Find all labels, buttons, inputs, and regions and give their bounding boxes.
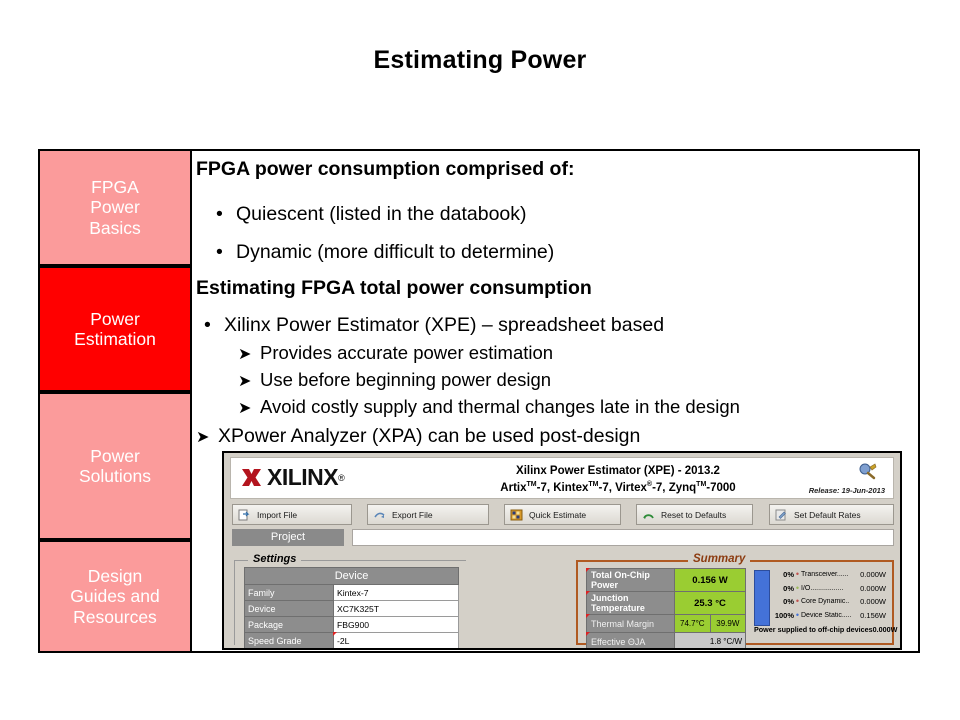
device-field-label: Speed Grade <box>245 633 334 649</box>
arrow-bullet-icon: ➤ <box>196 427 218 447</box>
trademark-mark: TM <box>588 481 598 488</box>
summary-row-value: 1.8 °C/W <box>674 633 745 651</box>
power-breakdown-bar <box>754 570 770 626</box>
device-family: KintexTM-7, <box>553 482 615 494</box>
bullet-icon: • <box>216 241 236 264</box>
device-table-row: DeviceXC7K325T <box>245 601 459 617</box>
sidebar-item-label: Power Solutions <box>79 446 151 487</box>
edit-rates-icon <box>775 509 788 521</box>
device-field-label: Family <box>245 585 334 601</box>
sidebar-item-fpga-power-basics[interactable]: FPGA Power Basics <box>38 149 192 266</box>
sidebar-item-power-solutions[interactable]: Power Solutions <box>38 392 192 540</box>
device-field-value[interactable]: -2L <box>334 633 459 649</box>
registered-mark: ® <box>338 473 345 483</box>
xilinx-x-mark-icon <box>241 467 262 488</box>
summary-group-title: Summary <box>688 553 750 565</box>
summary-table: Total On-Chip Power0.156 WJunction Tempe… <box>586 568 746 650</box>
summary-row: Thermal Margin74.7°C39.9W <box>587 615 746 633</box>
device-table-body: FamilyKintex-7DeviceXC7K325TPackageFBG90… <box>245 585 459 651</box>
bullet-icon: • <box>216 203 236 226</box>
xpe-tools-badge-icon <box>857 462 877 482</box>
sidebar-item-design-guides-and-resources[interactable]: Design Guides and Resources <box>38 540 192 653</box>
body-line-text: Provides accurate power estimation <box>260 342 553 363</box>
body-line: ➤XPower Analyzer (XPA) can be used post-… <box>196 425 640 448</box>
power-breakdown-percent: 0% <box>772 584 794 593</box>
body-line-text: FPGA power consumption comprised of: <box>196 158 574 180</box>
device-table-row: PackageFBG900 <box>245 617 459 633</box>
power-breakdown-value: 0.000W <box>858 584 886 593</box>
xilinx-wordmark: XILINX <box>267 464 338 491</box>
device-field-value[interactable]: Kintex-7 <box>334 585 459 601</box>
project-label: Project <box>232 529 344 546</box>
body-line: ➤Provides accurate power estimation <box>238 342 553 364</box>
summary-row-value: 25.3 °C <box>674 592 745 615</box>
device-field-label: Device <box>245 601 334 617</box>
toolbar-button-quick-estimate[interactable]: Quick Estimate <box>504 504 621 525</box>
toolbar-button-label: Set Default Rates <box>794 510 861 520</box>
xpe-header: XILINX ® Xilinx Power Estimator (XPE) - … <box>230 457 894 499</box>
power-breakdown-name: Core Dynamic.. <box>801 598 858 605</box>
project-row: Project <box>232 529 894 546</box>
sidebar-item-label: Power Estimation <box>74 309 156 350</box>
power-breakdown-rows: 0%•Transceiver......0.000W0%•I/O........… <box>772 568 886 622</box>
trademark-mark: ® <box>647 481 652 488</box>
summary-row-label: Effective ΘJA <box>587 633 675 651</box>
device-table: Device FamilyKintex-7DeviceXC7K325TPacka… <box>244 567 459 650</box>
device-family: ZynqTM-7000 <box>669 482 736 494</box>
export-file-icon <box>373 509 386 521</box>
power-breakdown-name: I/O................. <box>801 585 858 592</box>
toolbar-button-export-file[interactable]: Export File <box>367 504 489 525</box>
summary-row: Junction Temperature25.3 °C <box>587 592 746 615</box>
trademark-mark: TM <box>696 481 706 488</box>
power-breakdown-value: 0.000W <box>858 570 886 579</box>
settings-group: Settings Device FamilyKintex-7DeviceXC7K… <box>234 553 466 645</box>
xpe-title-block: Xilinx Power Estimator (XPE) - 2013.2 Ar… <box>423 463 813 496</box>
toolbar-button-label: Reset to Defaults <box>661 510 726 520</box>
arrow-bullet-icon: ➤ <box>238 398 260 418</box>
power-breakdown-value: 0.000W <box>858 597 886 606</box>
body-line: ➤Use before beginning power design <box>238 369 551 391</box>
device-field-value[interactable]: Extended <box>334 649 459 651</box>
summary-row-value-secondary: 39.9W <box>710 615 745 633</box>
device-table-header: Device <box>245 568 459 585</box>
power-breakdown-row: 0%•I/O.................0.000W <box>772 582 886 596</box>
power-breakdown-name: Transceiver...... <box>801 571 858 578</box>
body-line-text: Avoid costly supply and thermal changes … <box>260 396 740 417</box>
device-field-value[interactable]: XC7K325T <box>334 601 459 617</box>
bullet-icon: • <box>204 314 224 337</box>
toolbar-button-label: Export File <box>392 510 433 520</box>
power-breakdown-row: 0%•Transceiver......0.000W <box>772 568 886 582</box>
import-file-icon <box>238 509 251 521</box>
arrow-bullet-icon: ➤ <box>238 344 260 364</box>
body-line: •Xilinx Power Estimator (XPE) – spreadsh… <box>204 314 664 337</box>
power-breakdown-value: 0.156W <box>858 611 886 620</box>
quick-estimate-icon <box>510 509 523 521</box>
xpe-screenshot: XILINX ® Xilinx Power Estimator (XPE) - … <box>222 451 902 650</box>
body-line-text: Dynamic (more difficult to determine) <box>236 241 554 263</box>
arrow-bullet-icon: ➤ <box>238 371 260 391</box>
reset-icon <box>642 509 655 521</box>
device-table-row: FamilyKintex-7 <box>245 585 459 601</box>
legend-dot-icon: • <box>794 611 801 620</box>
sidebar-item-label: FPGA Power Basics <box>89 177 141 238</box>
xpe-toolbar: Import FileExport FileQuick EstimateRese… <box>232 504 894 525</box>
device-table-row: Speed Grade-2L <box>245 633 459 649</box>
legend-dot-icon: • <box>794 570 801 579</box>
summary-table-body: Total On-Chip Power0.156 WJunction Tempe… <box>587 569 746 651</box>
page-title: Estimating Power <box>0 46 960 75</box>
body-line: ➤Avoid costly supply and thermal changes… <box>238 396 740 418</box>
slide-estimating-power: Estimating Power FPGA Power Basics Power… <box>0 0 960 720</box>
body-line: FPGA power consumption comprised of: <box>196 158 574 181</box>
body-line: •Dynamic (more difficult to determine) <box>216 241 554 264</box>
offchip-power-label: Power supplied to off-chip devices <box>754 625 873 634</box>
body-line-text: XPower Analyzer (XPA) can be used post-d… <box>218 425 640 447</box>
summary-row-label: Thermal Margin <box>587 615 675 633</box>
xpe-app-title: Xilinx Power Estimator (XPE) - 2013.2 <box>423 463 813 480</box>
sidebar: FPGA Power Basics Power Estimation Power… <box>38 149 192 653</box>
body-text: FPGA power consumption comprised of:•Qui… <box>196 152 916 452</box>
body-line: •Quiescent (listed in the databook) <box>216 203 527 226</box>
summary-row-value: 0.156 W <box>674 569 745 592</box>
summary-row: Total On-Chip Power0.156 W <box>587 569 746 592</box>
offchip-power-row: Power supplied to off-chip devices 0.000… <box>754 625 886 634</box>
body-line-text: Estimating FPGA total power consumption <box>196 277 592 299</box>
toolbar-button-label: Import File <box>257 510 297 520</box>
power-breakdown-percent: 0% <box>772 597 794 606</box>
device-field-value[interactable]: FBG900 <box>334 617 459 633</box>
device-family: Virtex®-7, <box>615 482 669 494</box>
toolbar-button-set-default-rates[interactable]: Set Default Rates <box>769 504 894 525</box>
trademark-mark: TM <box>527 481 537 488</box>
sidebar-item-power-estimation[interactable]: Power Estimation <box>38 266 192 392</box>
summary-row-value: 74.7°C <box>674 615 710 633</box>
offchip-power-value: 0.000W <box>873 625 898 634</box>
power-breakdown-row: 0%•Core Dynamic..0.000W <box>772 595 886 609</box>
legend-dot-icon: • <box>794 597 801 606</box>
sidebar-item-label: Design Guides and Resources <box>70 566 160 627</box>
summary-group: Summary Total On-Chip Power0.156 WJuncti… <box>576 553 894 645</box>
xpe-release-date: Release: 19-Jun-2013 <box>809 486 885 495</box>
device-field-label: Package <box>245 617 334 633</box>
device-table-row: Temp GradeExtended <box>245 649 459 651</box>
summary-row-label: Junction Temperature <box>587 592 675 615</box>
device-family: ArtixTM-7, <box>500 482 553 494</box>
body-line-text: Xilinx Power Estimator (XPE) – spreadshe… <box>224 314 664 336</box>
power-breakdown-name: Device Static..... <box>801 612 858 619</box>
legend-dot-icon: • <box>794 584 801 593</box>
settings-group-title: Settings <box>248 553 301 565</box>
body-line: Estimating FPGA total power consumption <box>196 277 592 300</box>
summary-row: Effective ΘJA1.8 °C/W <box>587 633 746 651</box>
toolbar-button-import-file[interactable]: Import File <box>232 504 352 525</box>
summary-row-label: Total On-Chip Power <box>587 569 675 592</box>
device-field-label: Temp Grade <box>245 649 334 651</box>
power-breakdown-percent: 0% <box>772 570 794 579</box>
body-line-text: Use before beginning power design <box>260 369 551 390</box>
xilinx-logo: XILINX ® <box>241 464 345 491</box>
power-breakdown-row: 100%•Device Static.....0.156W <box>772 609 886 623</box>
project-input[interactable] <box>352 529 894 546</box>
power-breakdown-percent: 100% <box>772 611 794 620</box>
toolbar-button-label: Quick Estimate <box>529 510 586 520</box>
body-line-text: Quiescent (listed in the databook) <box>236 203 527 225</box>
xpe-device-families: ArtixTM-7, KintexTM-7, Virtex®-7, ZynqTM… <box>423 480 813 497</box>
toolbar-button-reset-to-defaults[interactable]: Reset to Defaults <box>636 504 753 525</box>
